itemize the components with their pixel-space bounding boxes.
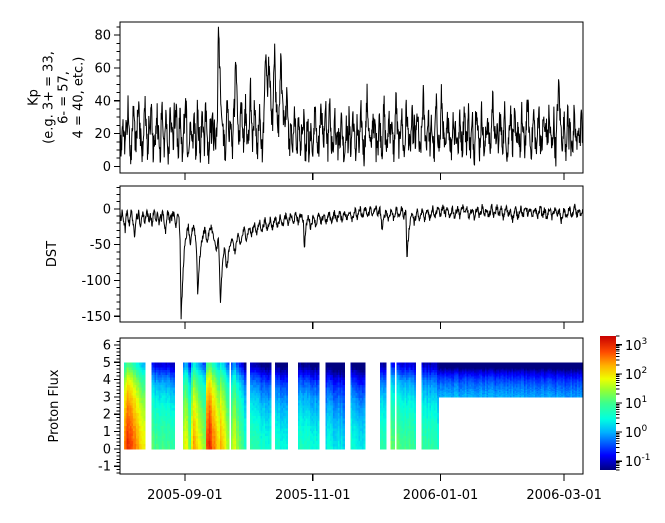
heatmap-cell [227,446,229,449]
heatmap-cell [393,446,395,449]
heatmap-cell [414,446,416,449]
figure-root: 020406080 Kp(e.g. 3+ = 33,6- = 57,4 = 40… [0,0,665,523]
heatmap-cell [144,446,146,449]
heatmap-cell [343,446,345,449]
dst-y-axis-label: DST [45,241,60,267]
y-tick-label: 0 [103,160,111,175]
heatmap-cell [318,446,320,449]
y-tick-label: 20 [94,127,111,142]
y-tick-label: -50 [90,238,111,253]
heatmap-cell [244,446,246,449]
kp-y-axis-label-line: (e.g. 3+ = 33, [42,51,57,144]
y-tick-label: 80 [94,29,111,44]
heatmap-cell [363,446,365,449]
science-figure: 020406080 Kp(e.g. 3+ = 33,6- = 57,4 = 40… [0,0,665,523]
y-tick-label: 0 [103,202,111,217]
kp-y-axis-label-line: 6- = 57, [57,71,72,124]
y-tick-label: -150 [81,310,111,325]
dst-panel: 0-50-100-150 DST [45,186,584,329]
heatmap-cell [269,446,271,449]
heatmap-cell [173,446,175,449]
kp-y-axis-label-line: 4 = 40, etc.) [72,57,87,139]
y-tick-label: 60 [94,61,111,76]
y-tick-label: 40 [94,94,111,109]
heatmap-cell [286,446,288,449]
kp-y-axis-label-line: Kp [27,89,42,106]
dst-panel-frame [120,186,583,322]
y-tick-label: -100 [81,274,111,289]
heatmap-cell [385,446,387,449]
